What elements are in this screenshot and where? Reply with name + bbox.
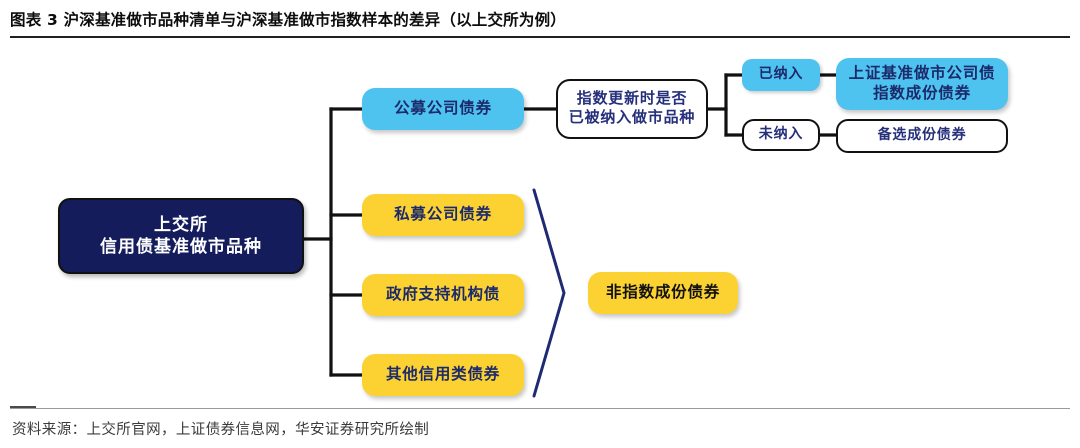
node-decision-index-update[interactable]: 指数更新时是否 已被纳入做市品种 bbox=[556, 79, 708, 139]
title-divider bbox=[10, 36, 1070, 38]
page-title: 图表 3 沪深基准做市品种清单与沪深基准做市指数样本的差异（以上交所为例） bbox=[10, 8, 1070, 30]
node-other-credit-bond[interactable]: 其他信用类债券 bbox=[362, 354, 524, 396]
node-included[interactable]: 已纳入 bbox=[742, 59, 820, 91]
node-backup-constituent-bond[interactable]: 备选成份债券 bbox=[836, 119, 1008, 153]
node-government-agency-bond[interactable]: 政府支持机构债 bbox=[362, 274, 524, 316]
node-root-exchange-market-making[interactable]: 上交所 信用债基准做市品种 bbox=[58, 198, 304, 274]
node-non-index-constituent-bond[interactable]: 非指数成份债券 bbox=[588, 272, 738, 314]
title-bar: 图表 3 沪深基准做市品种清单与沪深基准做市指数样本的差异（以上交所为例） bbox=[10, 8, 1070, 38]
node-public-corporate-bond[interactable]: 公募公司债券 bbox=[362, 88, 524, 130]
node-index-constituent-bond[interactable]: 上证基准做市公司债 指数成份债券 bbox=[836, 58, 1008, 110]
footer-divider bbox=[10, 408, 1070, 409]
source-note: 资料来源：上交所官网，上证债券信息网，华安证券研究所绘制 bbox=[12, 418, 429, 439]
wire-brace-nonindex bbox=[534, 190, 564, 396]
node-private-corporate-bond[interactable]: 私募公司债券 bbox=[362, 194, 524, 236]
node-excluded[interactable]: 未纳入 bbox=[742, 119, 820, 151]
